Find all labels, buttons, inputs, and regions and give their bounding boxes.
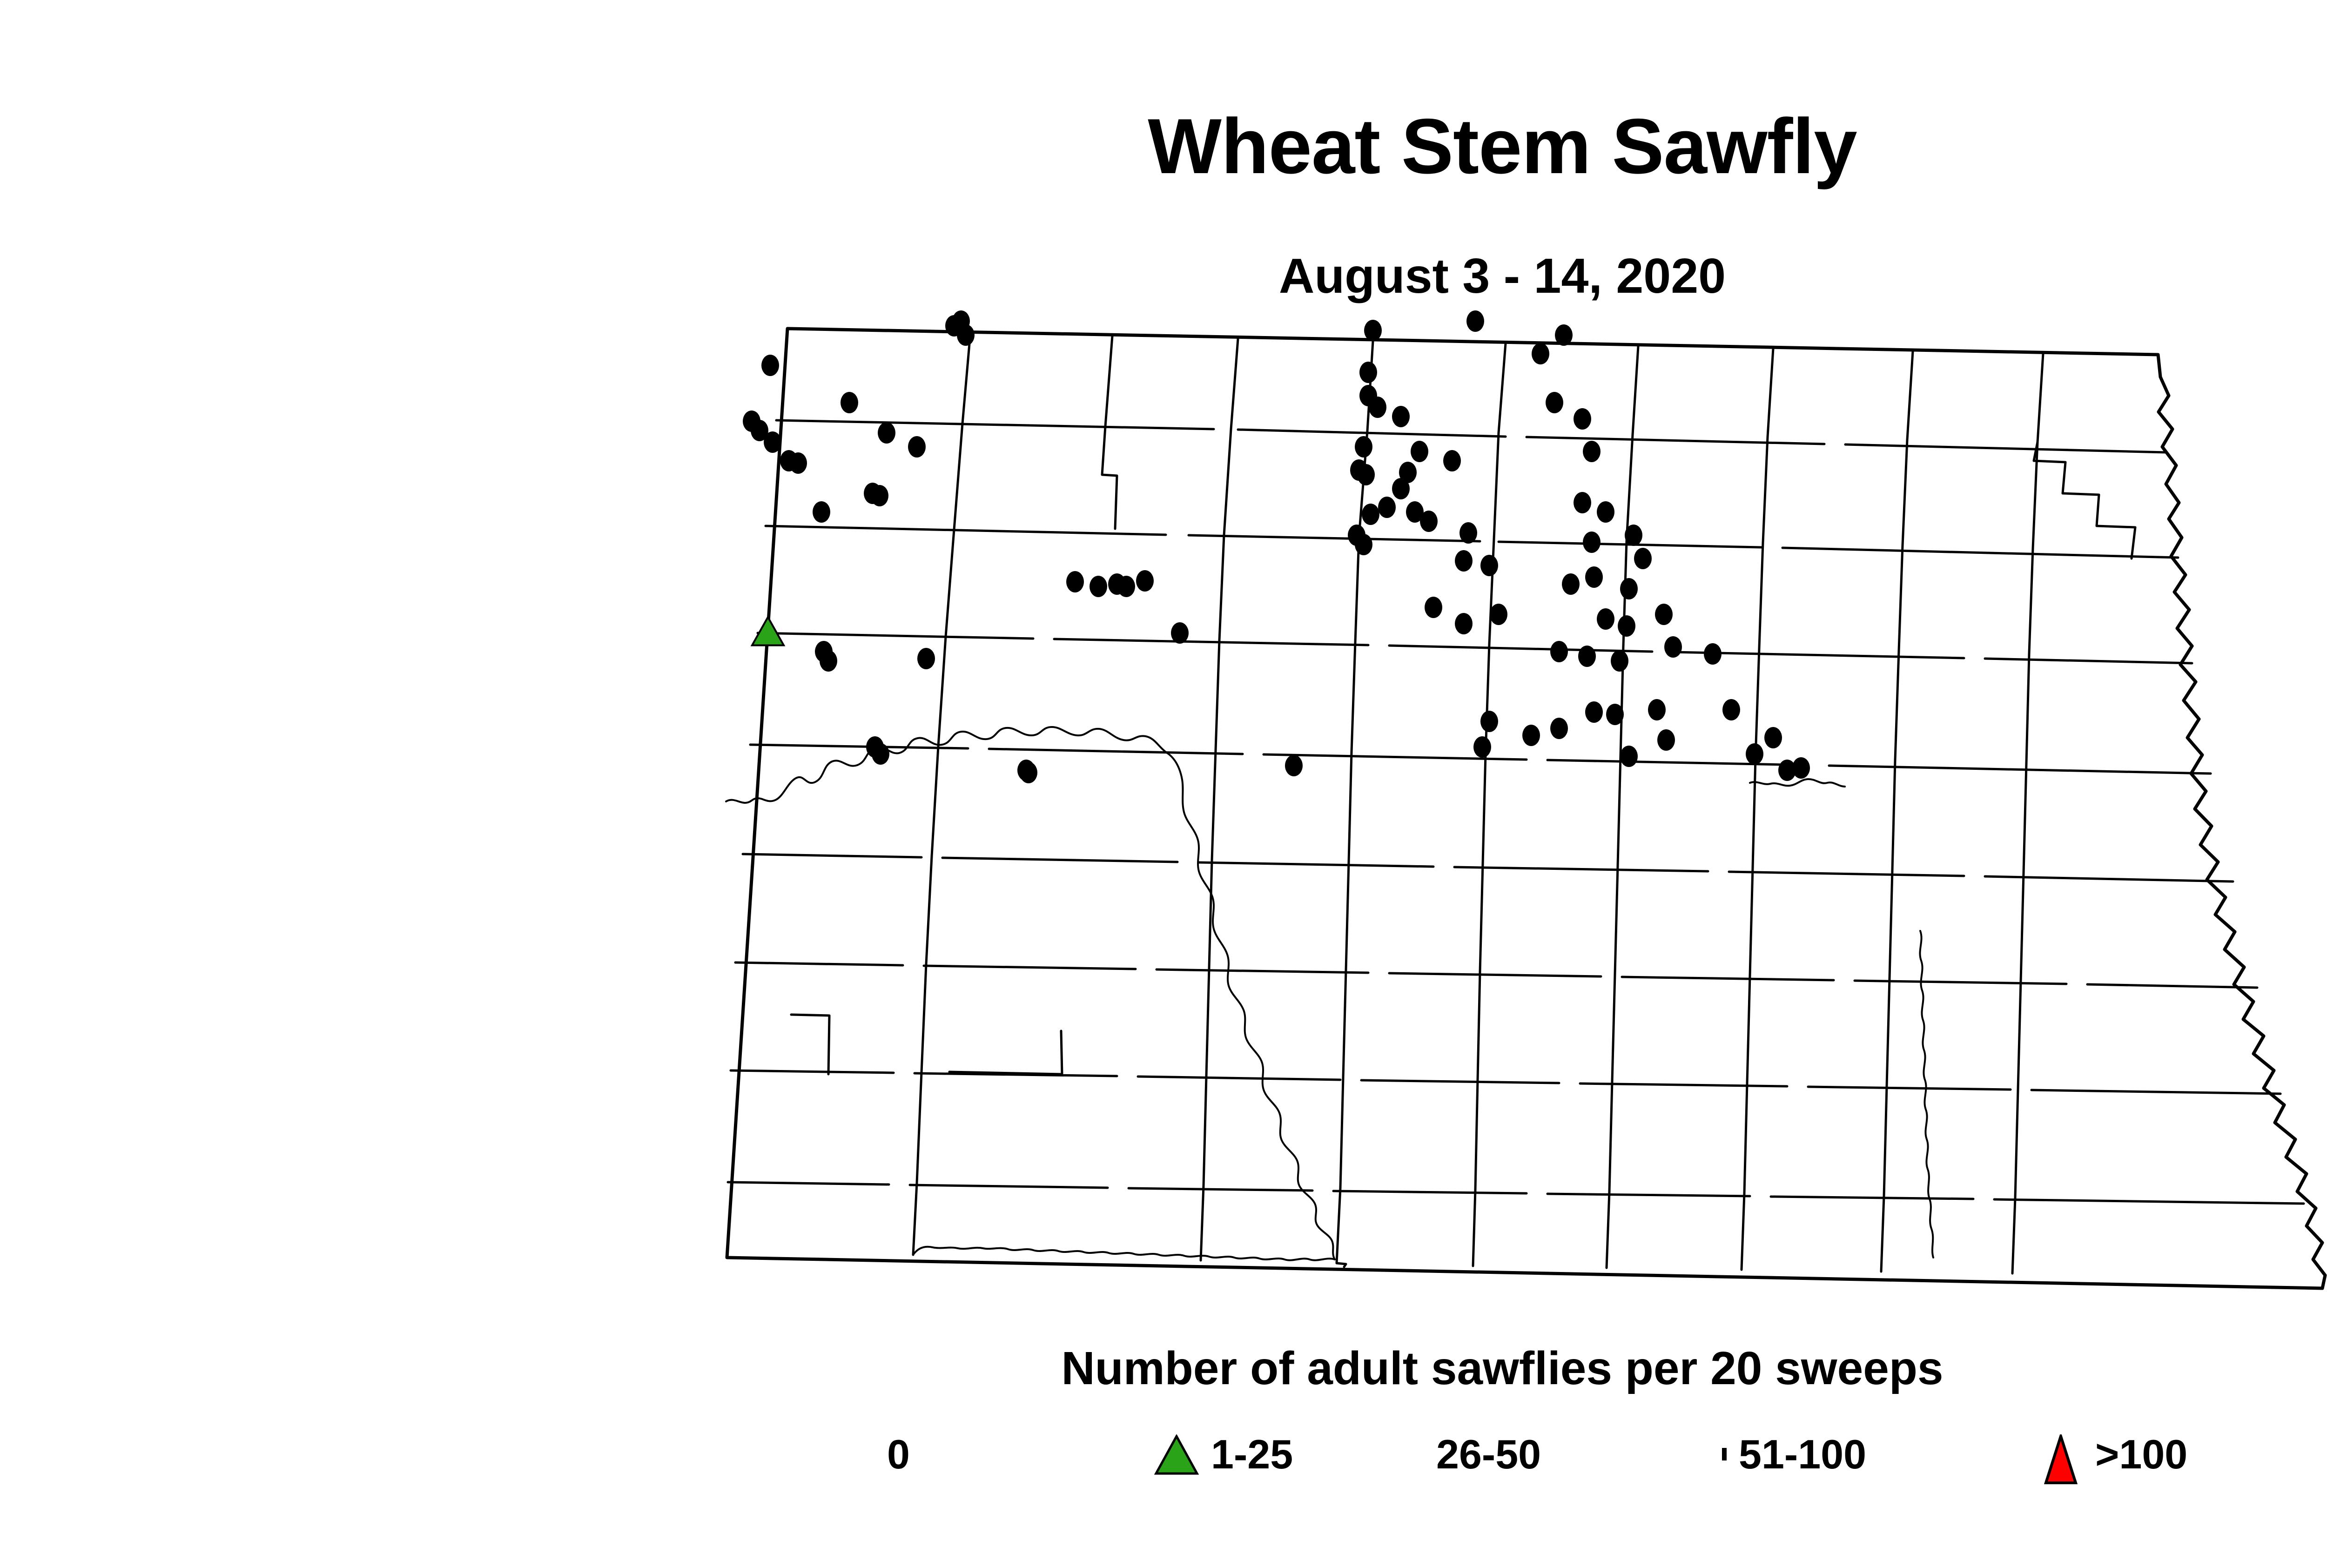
map-marker-zero[interactable] <box>1722 699 1740 720</box>
map-marker-zero[interactable] <box>1657 729 1675 751</box>
map-marker-zero[interactable] <box>1090 576 1107 597</box>
sw-jog2 <box>949 1031 1062 1074</box>
map-marker-zero[interactable] <box>1355 436 1372 458</box>
map-marker-zero[interactable] <box>1555 324 1573 346</box>
map-marker-zero[interactable] <box>1583 532 1601 553</box>
green-triangle-icon <box>1154 1434 1199 1474</box>
map-marker-zero[interactable] <box>1634 548 1652 569</box>
map-marker-zero[interactable] <box>1490 604 1507 625</box>
col-jog-nw <box>1102 426 1117 529</box>
map-marker-zero[interactable] <box>1425 597 1442 618</box>
missouri-river <box>726 727 1335 1259</box>
tier-line-7 <box>731 1070 2280 1094</box>
map-marker-zero[interactable] <box>1522 725 1540 746</box>
legend-item-0[interactable]: 0 <box>875 1422 910 1487</box>
map-marker-zero[interactable] <box>1420 511 1438 532</box>
map-marker-zero[interactable] <box>1443 450 1461 471</box>
map-marker-zero[interactable] <box>1550 718 1568 739</box>
map-page: Wheat Stem Sawfly August 3 - 14, 2020 <box>0 0 2327 1568</box>
map-marker-zero[interactable] <box>1585 566 1603 588</box>
map-data-markers <box>743 310 1810 783</box>
legend-item-4[interactable]: >100 <box>2038 1422 2187 1487</box>
legend-title: Number of adult sawflies per 20 sweeps <box>0 1345 2327 1392</box>
map-marker-zero[interactable] <box>1355 534 1372 555</box>
legend-item-1[interactable]: 1-25 <box>1154 1422 1293 1487</box>
col-jog-ne <box>2034 442 2135 559</box>
map-marker-zero[interactable] <box>1578 646 1596 667</box>
tier-line-8 <box>728 1182 2304 1204</box>
map-marker-zero[interactable] <box>1625 525 1642 546</box>
page-title: Wheat Stem Sawfly <box>0 107 2327 185</box>
legend-label-2: 26-50 <box>1436 1434 1541 1475</box>
map-marker-zero[interactable] <box>1285 755 1303 776</box>
tier-line-1 <box>776 420 2166 452</box>
legend-item-3[interactable]: 51-100 <box>1722 1422 1866 1487</box>
map-marker-zero[interactable] <box>1357 464 1375 485</box>
red-triangle-icon <box>2038 1434 2083 1474</box>
state-outline <box>727 329 2325 1288</box>
map-marker-zero[interactable] <box>1764 727 1782 748</box>
map-marker-zero[interactable] <box>1611 650 1628 672</box>
map-marker-zero[interactable] <box>1459 522 1477 544</box>
map-marker-zero[interactable] <box>871 485 888 506</box>
map-marker-zero[interactable] <box>1020 762 1037 783</box>
map-marker-zero[interactable] <box>1362 504 1379 525</box>
map-marker-zero[interactable] <box>917 648 935 669</box>
map-marker-zero[interactable] <box>841 392 858 413</box>
yellow-square-icon <box>1722 1450 1727 1459</box>
map-marker-zero[interactable] <box>1664 636 1682 658</box>
map-marker-zero[interactable] <box>1562 573 1580 595</box>
map-marker-zero[interactable] <box>908 436 926 458</box>
map-marker-zero[interactable] <box>1392 478 1410 499</box>
map-marker-zero[interactable] <box>872 743 889 765</box>
map-marker-zero[interactable] <box>1066 571 1084 592</box>
map-marker-zero[interactable] <box>1585 701 1603 723</box>
legend-label-0: 0 <box>887 1434 910 1475</box>
map-marker-zero[interactable] <box>1620 746 1638 767</box>
devils-lake <box>1750 779 1845 787</box>
map-marker-zero[interactable] <box>1378 497 1396 518</box>
col-line-t7 <box>921 964 2021 1089</box>
map-marker-zero[interactable] <box>1392 406 1410 427</box>
map-marker-zero[interactable] <box>1369 397 1386 418</box>
map-marker-zero[interactable] <box>1574 408 1591 430</box>
map-marker-zero[interactable] <box>1546 392 1563 413</box>
map-marker-zero[interactable] <box>1411 441 1428 462</box>
map-marker-zero[interactable] <box>1597 608 1614 630</box>
map-marker-zero[interactable] <box>1136 570 1154 592</box>
james-river <box>1920 931 1933 1258</box>
map-marker-zero[interactable] <box>761 355 779 376</box>
map-marker-1-25[interactable] <box>752 617 784 646</box>
map-marker-zero[interactable] <box>789 452 807 474</box>
map-marker-zero[interactable] <box>1583 441 1601 462</box>
map-marker-zero[interactable] <box>1620 578 1638 599</box>
legend-label-4: >100 <box>2095 1434 2187 1475</box>
map-marker-zero[interactable] <box>1606 704 1624 725</box>
map-marker-zero[interactable] <box>1480 711 1498 732</box>
col-line-t8 <box>917 1072 2018 1198</box>
map-marker-zero[interactable] <box>1359 362 1377 383</box>
map-marker-zero[interactable] <box>1746 743 1763 765</box>
map-marker-zero[interactable] <box>1455 550 1473 572</box>
sw-jog <box>791 1015 829 1074</box>
map-marker-zero[interactable] <box>1171 622 1189 644</box>
map-marker-zero[interactable] <box>1704 643 1722 665</box>
map-marker-zero[interactable] <box>1117 576 1135 597</box>
legend-label-1: 1-25 <box>1211 1434 1293 1475</box>
legend: 0 1-25 26-50 51-100 >100 <box>875 1422 2225 1506</box>
map-marker-zero[interactable] <box>813 501 830 523</box>
tier-line-6 <box>735 962 2257 988</box>
map-marker-zero[interactable] <box>1466 310 1484 332</box>
map-marker-zero[interactable] <box>878 422 895 444</box>
map-marker-zero[interactable] <box>1480 555 1498 576</box>
tier-line-3 <box>758 633 2192 663</box>
map-marker-zero[interactable] <box>1618 615 1635 637</box>
north-dakota-county-map[interactable] <box>707 307 2327 1322</box>
map-marker-zero[interactable] <box>1455 613 1473 634</box>
map-marker-zero[interactable] <box>1532 343 1549 364</box>
page-subtitle: August 3 - 14, 2020 <box>0 251 2327 301</box>
map-county-boundaries <box>726 329 2325 1288</box>
map-marker-zero[interactable] <box>1473 736 1491 758</box>
col-line-t3 <box>946 530 2033 653</box>
map-marker-zero[interactable] <box>764 431 781 453</box>
map-marker-zero[interactable] <box>1648 699 1666 720</box>
tier-line-5 <box>743 854 2233 882</box>
legend-label-3: 51-100 <box>1739 1434 1866 1475</box>
map-marker-zero[interactable] <box>820 650 837 672</box>
missouri-river-south <box>913 1247 1335 1260</box>
map-marker-zero[interactable] <box>957 324 975 346</box>
map-marker-zero[interactable] <box>1792 757 1810 779</box>
map-marker-zero[interactable] <box>1655 604 1673 625</box>
map-marker-zero[interactable] <box>1364 320 1382 341</box>
map-marker-zero[interactable] <box>1550 641 1568 662</box>
map-marker-zero[interactable] <box>1597 501 1614 523</box>
legend-item-2[interactable]: 26-50 <box>1424 1422 1541 1487</box>
map-marker-zero[interactable] <box>1574 492 1591 513</box>
